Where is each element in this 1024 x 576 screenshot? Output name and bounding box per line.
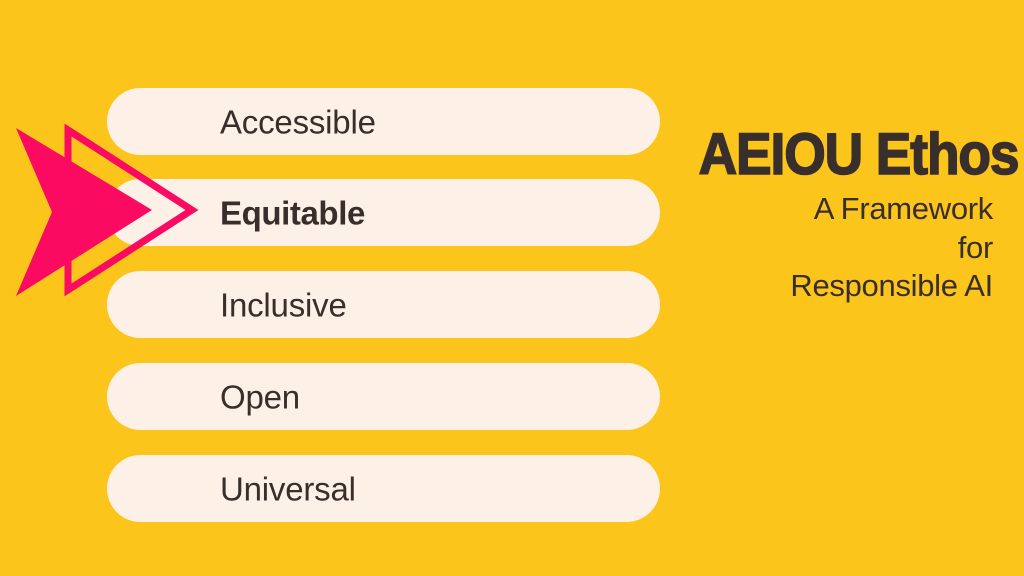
principles-pill-list: Accessible Equitable Inclusive Open Univ… [107,88,660,522]
page-title: AEIOU Ethos [699,128,993,181]
list-item-accessible[interactable]: Accessible [107,88,660,155]
list-item-universal[interactable]: Universal [107,455,660,522]
subtitle-line-2: for [673,229,993,267]
pill-label: Accessible [220,105,376,138]
subtitle-line-3: Responsible AI [673,267,993,305]
list-item-open[interactable]: Open [107,363,660,430]
pill-label: Universal [220,472,356,505]
list-item-equitable[interactable]: Equitable [107,179,660,246]
page-subtitle: A Framework for Responsible AI [673,190,993,305]
pill-label: Equitable [220,196,365,229]
subtitle-line-1: A Framework [673,190,993,228]
list-item-inclusive[interactable]: Inclusive [107,271,660,338]
slide-canvas: Accessible Equitable Inclusive Open Univ… [0,0,1024,576]
pill-label: Inclusive [220,288,347,321]
title-block: AEIOU Ethos A Framework for Responsible … [673,128,993,306]
pill-label: Open [220,380,300,413]
